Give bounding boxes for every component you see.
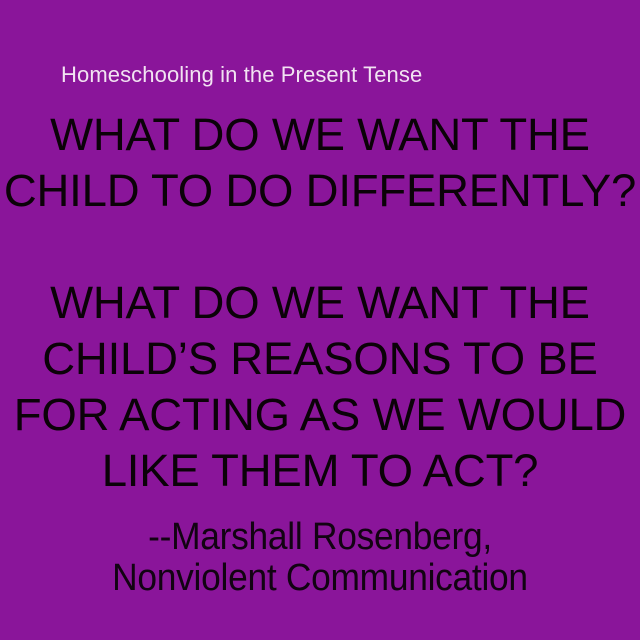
quote-line: LIKE THEM TO ACT?: [0, 443, 640, 499]
quote-line: CHILD TO DO DIFFERENTLY?: [0, 163, 640, 219]
quote-line: FOR ACTING AS WE WOULD: [0, 387, 640, 443]
attribution-author: --Marshall Rosenberg,: [22, 517, 617, 558]
quote-attribution: --Marshall Rosenberg, Nonviolent Communi…: [22, 517, 617, 599]
series-subtitle: Homeschooling in the Present Tense: [61, 62, 422, 88]
quote-block-one: WHAT DO WE WANT THE CHILD TO DO DIFFEREN…: [0, 107, 640, 219]
quote-line: WHAT DO WE WANT THE: [0, 275, 640, 331]
quote-block-separator: [0, 219, 640, 275]
attribution-source: Nonviolent Communication: [22, 558, 617, 599]
quote-line: WHAT DO WE WANT THE: [0, 107, 640, 163]
quote-body: WHAT DO WE WANT THE CHILD TO DO DIFFEREN…: [0, 107, 640, 499]
quote-line: CHILD’S REASONS TO BE: [0, 331, 640, 387]
quote-card: Homeschooling in the Present Tense WHAT …: [0, 0, 640, 640]
quote-block-two: WHAT DO WE WANT THE CHILD’S REASONS TO B…: [0, 275, 640, 499]
